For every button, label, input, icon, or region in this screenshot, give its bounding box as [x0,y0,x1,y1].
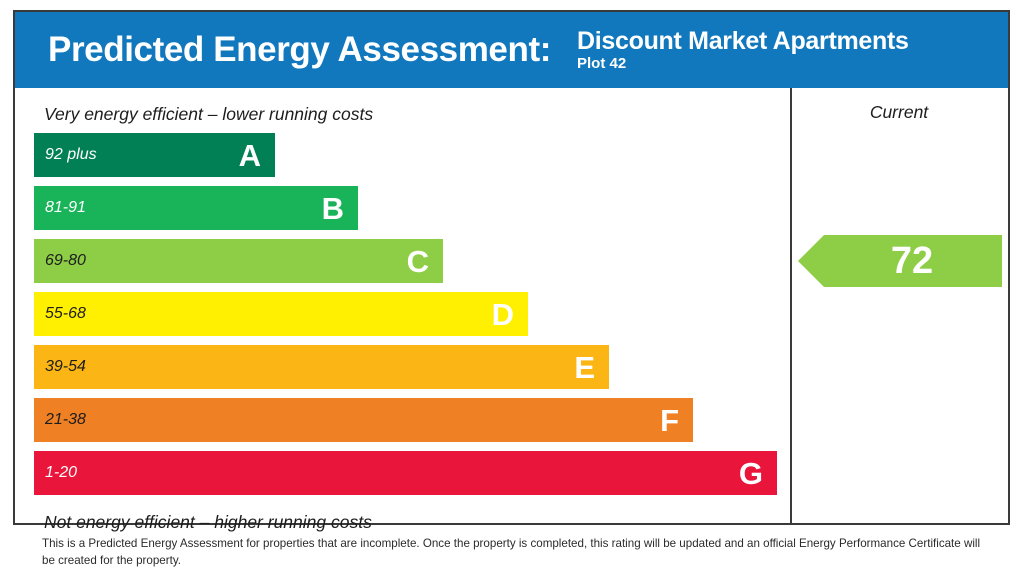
energy-band-range-b: 81-91 [34,200,86,216]
property-plot: Plot 42 [577,56,909,72]
energy-band-letter-d: D [492,299,528,330]
property-details: Discount Market Apartments Plot 42 [577,28,909,72]
certificate-header: Predicted Energy Assessment: Discount Ma… [15,12,1008,88]
certificate-body: Very energy efficient – lower running co… [15,88,1008,523]
column-divider [790,88,792,523]
energy-band-row-c: 69-80C [34,239,443,283]
energy-band-bar-a: 92 plusA [34,133,275,177]
energy-band-bar-f: 21-38F [34,398,693,442]
efficiency-caption-bottom: Not energy efficient – higher running co… [44,512,372,533]
energy-band-range-d: 55-68 [34,306,86,322]
energy-band-letter-e: E [574,352,609,383]
page-title: Predicted Energy Assessment: [48,30,551,70]
energy-band-range-g: 1-20 [34,465,77,481]
energy-band-bar-g: 1-20G [34,451,777,495]
energy-band-letter-f: F [660,405,693,436]
energy-band-row-g: 1-20G [34,451,777,495]
energy-band-range-e: 39-54 [34,359,86,375]
energy-band-row-f: 21-38F [34,398,693,442]
current-column-heading: Current [790,102,1008,123]
energy-band-range-c: 69-80 [34,253,86,269]
energy-band-bar-b: 81-91B [34,186,358,230]
energy-band-bar-c: 69-80C [34,239,443,283]
energy-band-range-a: 92 plus [34,147,97,163]
efficiency-caption-top: Very energy efficient – lower running co… [44,104,373,125]
energy-band-letter-c: C [407,246,443,277]
current-rating-value: 72 [867,242,933,280]
energy-band-row-a: 92 plusA [34,133,275,177]
footer-disclaimer: This is a Predicted Energy Assessment fo… [42,536,992,570]
current-rating-arrow: 72 [798,235,1002,287]
energy-band-row-b: 81-91B [34,186,358,230]
property-name: Discount Market Apartments [577,28,909,54]
energy-band-bar-d: 55-68D [34,292,528,336]
energy-band-bar-e: 39-54E [34,345,609,389]
energy-band-letter-g: G [739,458,777,489]
energy-band-row-d: 55-68D [34,292,528,336]
epc-certificate-frame: Predicted Energy Assessment: Discount Ma… [13,10,1010,525]
energy-band-letter-b: B [322,193,358,224]
energy-band-letter-a: A [239,140,275,171]
energy-band-row-e: 39-54E [34,345,609,389]
energy-band-range-f: 21-38 [34,412,86,428]
